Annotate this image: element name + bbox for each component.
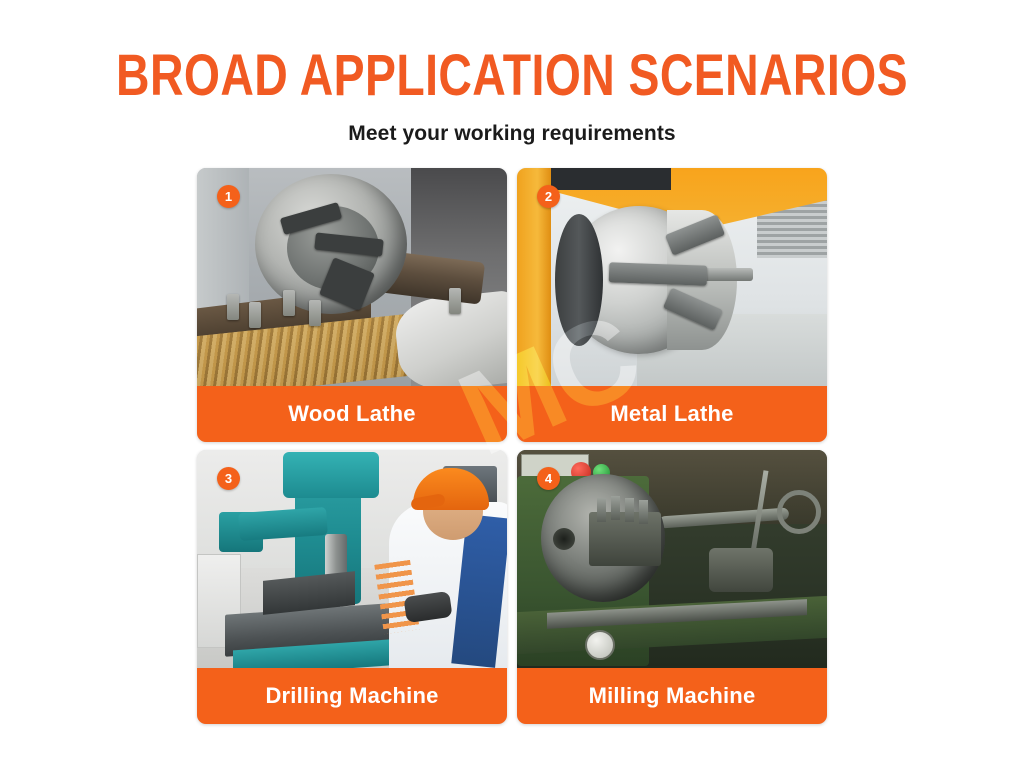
milling-machine-illustration <box>517 450 827 668</box>
metal-lathe-illustration <box>517 168 827 386</box>
header: BROAD APPLICATION SCENARIOS Meet your wo… <box>0 46 1024 146</box>
scenario-card-drilling-machine[interactable]: 3 Drilling Machine <box>197 450 507 724</box>
scenario-photo-drilling-machine <box>197 450 507 668</box>
scenario-photo-wood-lathe <box>197 168 507 386</box>
scenario-badge-2: 2 <box>537 185 560 208</box>
page-title: BROAD APPLICATION SCENARIOS <box>102 46 921 106</box>
scenario-caption-milling-machine: Milling Machine <box>517 668 827 724</box>
scenario-caption-drilling-machine: Drilling Machine <box>197 668 507 724</box>
scenario-photo-metal-lathe <box>517 168 827 386</box>
scenario-caption-wood-lathe: Wood Lathe <box>197 386 507 442</box>
scenario-photo-milling-machine <box>517 450 827 668</box>
scenario-badge-1: 1 <box>217 185 240 208</box>
scenario-badge-3: 3 <box>217 467 240 490</box>
poster-canvas: BROAD APPLICATION SCENARIOS Meet your wo… <box>0 0 1024 768</box>
scenario-grid: 1 Wood Lathe <box>197 168 827 724</box>
wood-lathe-illustration <box>197 168 507 386</box>
scenario-card-metal-lathe[interactable]: 2 Metal Lathe <box>517 168 827 442</box>
drilling-machine-illustration <box>197 450 507 668</box>
scenario-caption-metal-lathe: Metal Lathe <box>517 386 827 442</box>
page-subtitle: Meet your working requirements <box>0 122 1024 146</box>
scenario-card-milling-machine[interactable]: 4 Milling Machine <box>517 450 827 724</box>
scenario-badge-4: 4 <box>537 467 560 490</box>
scenario-card-wood-lathe[interactable]: 1 Wood Lathe <box>197 168 507 442</box>
